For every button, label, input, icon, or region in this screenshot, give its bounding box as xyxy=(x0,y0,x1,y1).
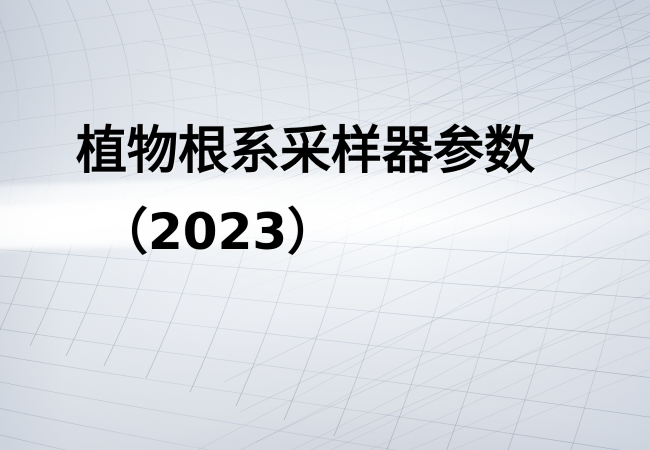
page-subtitle-year: （2023） xyxy=(98,205,337,259)
title-block: 植物根系采样器参数 （2023） xyxy=(0,0,650,450)
page-title: 植物根系采样器参数 xyxy=(76,124,535,179)
title-slide: 植物根系采样器参数 （2023） xyxy=(0,0,650,450)
